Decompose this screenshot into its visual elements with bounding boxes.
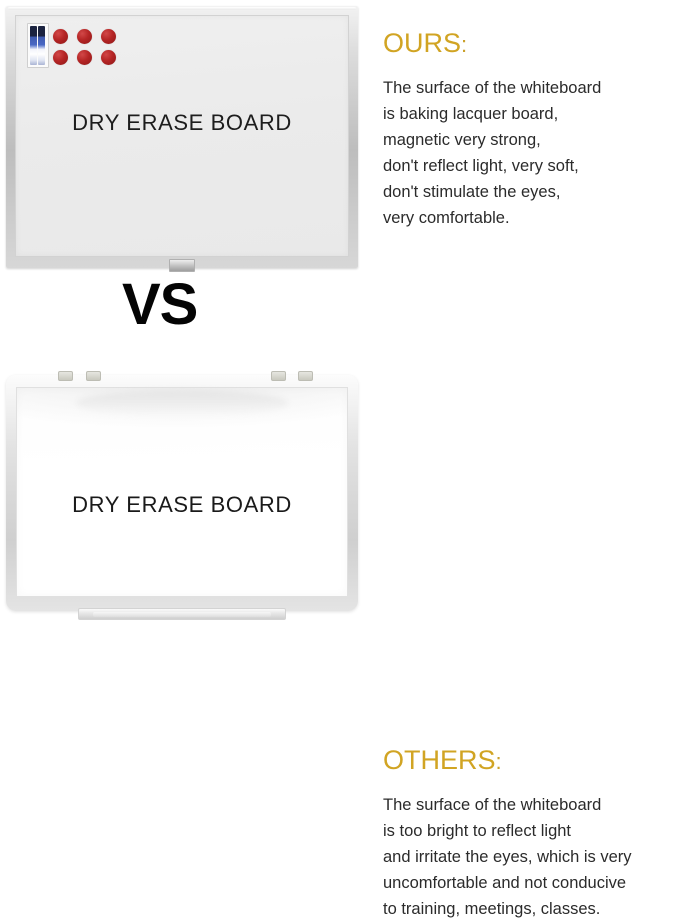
copy-block-ours: OURS: The surface of the whiteboard is b… bbox=[383, 30, 675, 231]
magnet-dot bbox=[101, 50, 116, 65]
magnet-dot bbox=[53, 50, 68, 65]
whiteboard-ours-surface: DRY ERASE BOARD bbox=[15, 15, 349, 257]
comparison-section-others: DRY ERASE BOARD OTHERS: The surface of t… bbox=[0, 365, 679, 621]
magnet-dot bbox=[77, 50, 92, 65]
body-line: uncomfortable and not conducive bbox=[383, 870, 675, 896]
body-line: The surface of the whiteboard bbox=[383, 75, 675, 101]
body-line: don't reflect light, very soft, bbox=[383, 153, 675, 179]
body-line: is baking lacquer board, bbox=[383, 101, 675, 127]
magnet-dot bbox=[53, 29, 68, 44]
pen-tray-clip bbox=[169, 259, 195, 272]
heading-others: OTHERS: bbox=[383, 747, 675, 774]
heading-ours: OURS: bbox=[383, 30, 675, 57]
heading-ours-text: OURS bbox=[383, 28, 461, 58]
comparison-page: DRY ERASE BOARD OURS: The surface of the… bbox=[0, 0, 679, 621]
whiteboard-others: DRY ERASE BOARD bbox=[6, 375, 358, 611]
versus-label: VS bbox=[122, 276, 197, 334]
whiteboard-others-surface: DRY ERASE BOARD bbox=[16, 387, 348, 597]
body-line: very comfortable. bbox=[383, 205, 675, 231]
body-line: is too bright to reflect light bbox=[383, 818, 675, 844]
body-line: The surface of the whiteboard bbox=[383, 792, 675, 818]
body-line: to training, meetings, classes. bbox=[383, 896, 675, 922]
whiteboard-ours-label: DRY ERASE BOARD bbox=[16, 110, 348, 136]
marker-pen-icon bbox=[30, 26, 37, 65]
comparison-section-ours: DRY ERASE BOARD OURS: The surface of the… bbox=[0, 0, 679, 282]
mounting-bracket bbox=[58, 371, 73, 381]
magnet-dot bbox=[77, 29, 92, 44]
pen-holder bbox=[27, 23, 49, 68]
pen-tray bbox=[78, 608, 286, 620]
surface-glare bbox=[76, 390, 287, 416]
copy-block-others: OTHERS: The surface of the whiteboard is… bbox=[383, 747, 675, 922]
heading-ours-colon: : bbox=[461, 32, 467, 57]
body-others: The surface of the whiteboard is too bri… bbox=[383, 792, 675, 922]
heading-others-text: OTHERS bbox=[383, 745, 496, 775]
body-line: magnetic very strong, bbox=[383, 127, 675, 153]
mounting-bracket bbox=[298, 371, 313, 381]
mounting-bracket bbox=[86, 371, 101, 381]
magnet-dot bbox=[101, 29, 116, 44]
body-line: don't stimulate the eyes, bbox=[383, 179, 675, 205]
whiteboard-ours: DRY ERASE BOARD bbox=[6, 6, 358, 268]
heading-others-colon: : bbox=[496, 749, 502, 774]
mounting-bracket bbox=[271, 371, 286, 381]
pen-tray-rail bbox=[93, 612, 271, 617]
marker-pen-icon bbox=[38, 26, 45, 65]
body-line: and irritate the eyes, which is very bbox=[383, 844, 675, 870]
whiteboard-others-label: DRY ERASE BOARD bbox=[17, 492, 347, 518]
body-ours: The surface of the whiteboard is baking … bbox=[383, 75, 675, 231]
